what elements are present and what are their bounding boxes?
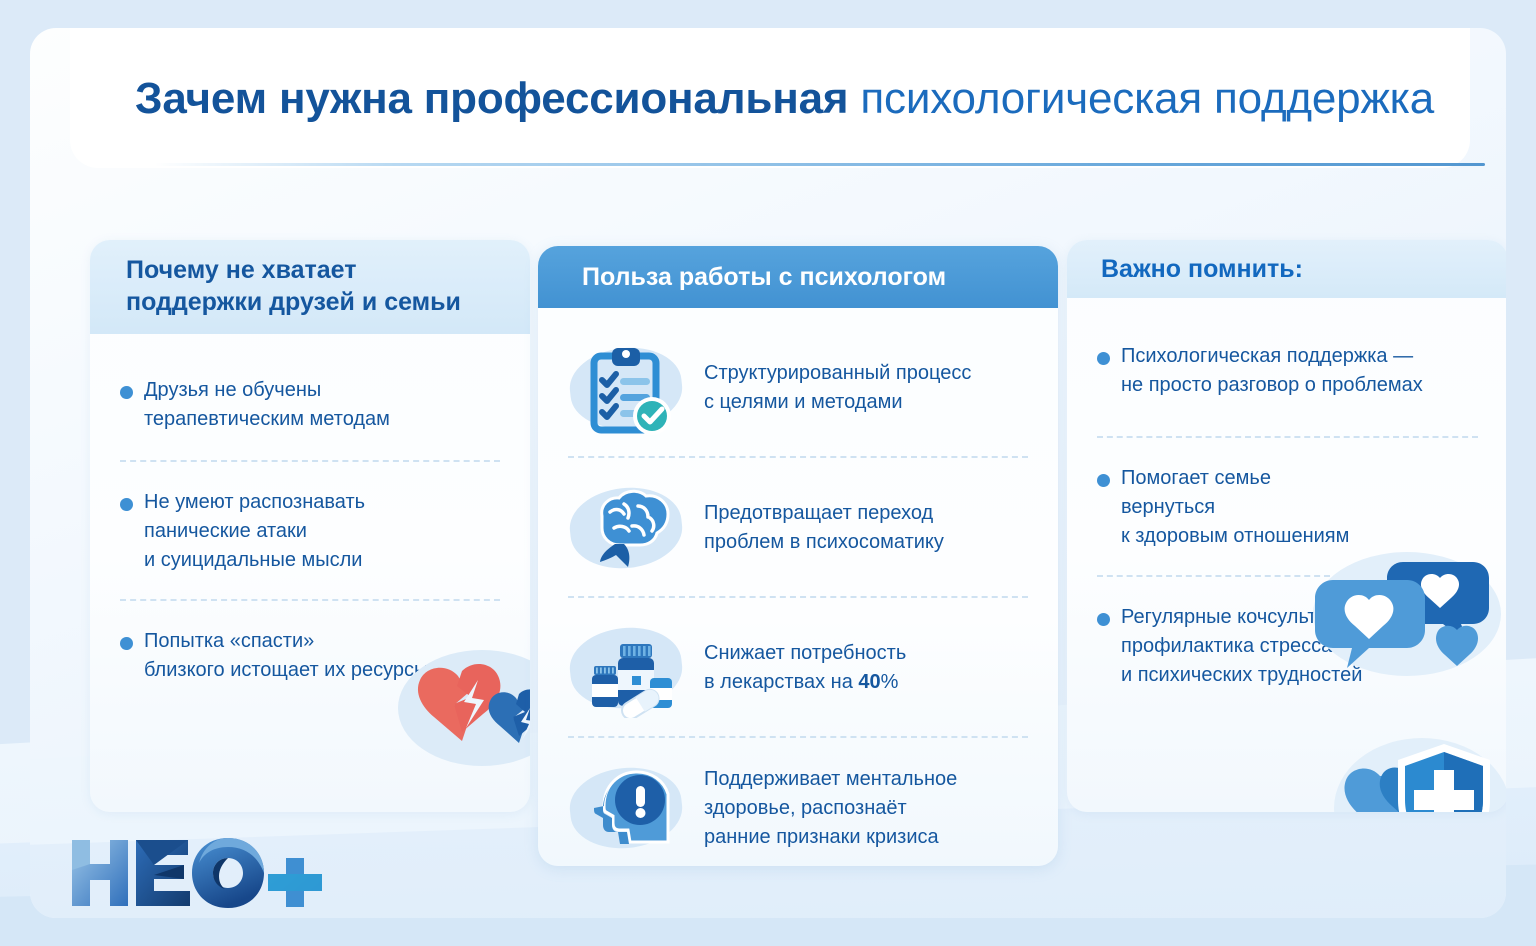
column-left-header: Почему не хватает поддержки друзей и сем… [90, 240, 530, 334]
list-item: Не умеют распознавать панические атаки и… [90, 488, 530, 575]
divider [568, 736, 1028, 738]
list-item: Регулярные кочсультации — профилактика с… [1067, 603, 1506, 690]
column-right: Важно помнить: Психологическая поддержка… [1067, 240, 1506, 812]
benefit-value: 40 [858, 671, 880, 693]
bullet-dot-icon [1097, 474, 1110, 487]
benefit-line-3: ранние признаки кризиса [704, 826, 939, 848]
list-item: Попытка «спасти» близкого истощает их ре… [90, 627, 530, 685]
shield-heart-cross-icon [1322, 730, 1506, 812]
bullet-dot-icon [1097, 352, 1110, 365]
title-underline [155, 163, 1485, 166]
list-item: Помогает семье вернуться к здоровым отно… [1067, 464, 1506, 551]
column-middle-header: Польза работы с психологом [538, 246, 1058, 308]
benefit-line-2: здоровье, распознаёт [704, 797, 907, 819]
list-item-text: Не умеют распознавать панические атаки и… [144, 491, 365, 571]
benefit-unit: % [881, 671, 899, 693]
list-item-text: Психологическая поддержка — не просто ра… [1121, 345, 1423, 396]
pills-bottles-icon [568, 616, 686, 720]
benefit-row: Поддерживает ментальное здоровье, распоз… [538, 756, 1058, 860]
benefit-line-2: с целями и методами [704, 391, 903, 413]
head-exclamation-icon [568, 756, 686, 860]
divider [568, 596, 1028, 598]
column-right-heading: Важно помнить: [1101, 255, 1303, 284]
column-middle-body: Структурированный процесс с целями и мет… [538, 336, 1058, 866]
list-item-text: Помогает семье вернуться к здоровым отно… [1121, 467, 1349, 547]
clipboard-checklist-icon [568, 336, 686, 440]
bullet-dot-icon [120, 386, 133, 399]
column-left: Почему не хватает поддержки друзей и сем… [90, 240, 530, 812]
benefit-line-1: Структурированный процесс [704, 362, 971, 384]
bullet-dot-icon [120, 637, 133, 650]
list-item-text: Друзья не обучены терапевтическим метода… [144, 379, 390, 430]
divider [1097, 436, 1478, 438]
list-item: Друзья не обучены терапевтическим метода… [90, 376, 530, 434]
column-left-heading-line1: Почему не хватает [126, 256, 356, 284]
benefit-text: Структурированный процесс с целями и мет… [704, 359, 971, 417]
page-title-light: психологическая поддержка [860, 74, 1434, 123]
benefit-line-1: Поддерживает ментальное [704, 768, 957, 790]
column-left-heading: Почему не хватает поддержки друзей и сем… [126, 254, 494, 318]
benefit-text: Снижает потребность в лекарствах на 40% [704, 639, 906, 697]
benefit-line-2-prefix: в лекарствах на [704, 671, 858, 693]
page-title-bold: Зачем нужна профессиональная [135, 74, 848, 123]
benefit-row: Предотвращает переход проблем в психосом… [538, 476, 1058, 580]
divider [1097, 575, 1478, 577]
list-item-text: Регулярные кочсультации — профилактика с… [1121, 606, 1387, 686]
bullet-dot-icon [120, 498, 133, 511]
benefit-row: Структурированный процесс с целями и мет… [538, 336, 1058, 440]
list-item-text: Попытка «спасти» близкого истощает их ре… [144, 630, 428, 681]
bullet-dot-icon [1097, 613, 1110, 626]
title-band: Зачем нужна профессиональная психологиче… [70, 28, 1470, 168]
column-right-body: Психологическая поддержка — не просто ра… [1067, 342, 1506, 812]
infographic-page: Зачем нужна профессиональная психологиче… [0, 0, 1536, 946]
benefit-row: Снижает потребность в лекарствах на 40% [538, 616, 1058, 720]
benefit-line-1: Предотвращает переход [704, 502, 933, 524]
benefit-line-2: проблем в психосоматику [704, 531, 944, 553]
divider [120, 599, 500, 601]
couple-icon [340, 806, 530, 812]
divider [120, 460, 500, 462]
page-title: Зачем нужна профессиональная психологиче… [135, 76, 1434, 122]
neo-plus-logo [66, 830, 326, 918]
column-right-header: Важно помнить: [1067, 240, 1506, 298]
divider [568, 456, 1028, 458]
content-sheet: Зачем нужна профессиональная психологиче… [30, 28, 1506, 918]
column-left-body: Друзья не обучены терапевтическим метода… [90, 376, 530, 812]
column-middle-heading: Польза работы с психологом [582, 263, 946, 292]
column-left-heading-line2: поддержки друзей и семьи [126, 288, 461, 316]
benefit-text: Поддерживает ментальное здоровье, распоз… [704, 765, 957, 852]
benefit-line-1: Снижает потребность [704, 642, 906, 664]
brain-icon [568, 476, 686, 580]
list-item: Психологическая поддержка — не просто ра… [1067, 342, 1506, 400]
column-middle: Польза работы с психологом [538, 246, 1058, 866]
benefit-text: Предотвращает переход проблем в психосом… [704, 499, 944, 557]
